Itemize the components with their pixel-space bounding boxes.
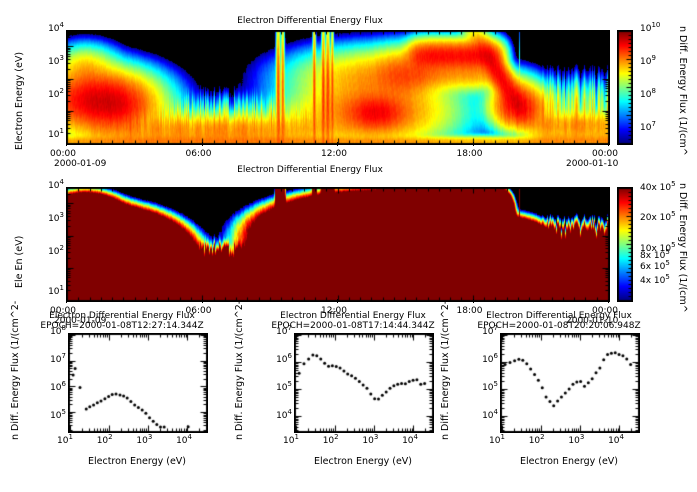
xtick-2: 103: [362, 436, 378, 446]
spectrum-3-title: Electron Differential Energy Flux: [464, 311, 654, 321]
xtick-time-0: 00:00: [50, 149, 76, 159]
spectrum-1-plot[interactable]: [68, 333, 208, 433]
spectrum-1-xtick-group: 101102103104: [68, 433, 206, 447]
cb2-tick-5: 4x 105: [640, 276, 670, 286]
xtick-0: 101: [57, 436, 73, 446]
panel-1-colorbar-ticks: 1010 109 108 107: [632, 30, 678, 143]
xtick-2: 103: [136, 436, 152, 446]
spectrum-2-plot[interactable]: [294, 333, 434, 433]
panel-1-colorbar-label: n Diff. Energy Flux (1/(cm^: [688, 26, 697, 37]
spectrum-3-xlabel: Electron Energy (eV): [484, 456, 654, 467]
panel-1-ylabel-text: Electron Energy (eV): [14, 52, 25, 150]
panel-1-ytick-0: 104: [48, 24, 64, 34]
xtick-mark-4: [608, 142, 609, 146]
xtick-0: 101: [489, 436, 505, 446]
sp1-ytick-3: 105: [50, 411, 66, 421]
xtick-mark-3: [473, 142, 474, 146]
sp2-ytick-1: 106: [276, 355, 292, 365]
sp1-ytick-0: 108: [50, 327, 66, 337]
panel-2-ytick-3: 101: [48, 287, 64, 297]
cb1-tick-3: 107: [640, 123, 656, 133]
spectrum-2-title: Electron Differential Energy Flux: [258, 311, 448, 321]
sp1-ytick-1: 107: [50, 355, 66, 365]
panel-1-title: Electron Differential Energy Flux: [0, 16, 620, 26]
panel-1-colorbar: [617, 30, 633, 145]
spectrum-2-xlabel: Electron Energy (eV): [278, 456, 448, 467]
sp3-ytick-0: 107: [482, 327, 498, 337]
panel-1-spectrogram[interactable]: [66, 30, 610, 145]
xtick-mark-1: [202, 299, 203, 303]
xtick-time-4: 00:00: [592, 149, 618, 159]
panel-2-colorbar-label-text: n Diff. Energy Flux (1/(cm^: [677, 183, 688, 313]
sp3-ytick-1: 106: [482, 355, 498, 365]
cb2-tick-1: 20x 105: [640, 213, 676, 223]
sp3-ytick-2: 105: [482, 383, 498, 393]
panel-2-colorbar-label: n Diff. Energy Flux (1/(cm^: [688, 183, 697, 194]
xtick-1: 102: [97, 436, 113, 446]
spectrum-3-plot[interactable]: [500, 333, 640, 433]
panel-2-ytick-0: 104: [48, 181, 64, 191]
panel-2-colorbar: [617, 187, 633, 302]
panel-2-ytick-group: 104 103 102 101: [34, 187, 64, 300]
panel-1-ytick-group: 104 103 102 101: [34, 30, 64, 143]
panel-2-title: Electron Differential Energy Flux: [0, 165, 620, 175]
xtick-2: 103: [568, 436, 584, 446]
panel-1-ytick-1: 103: [48, 57, 64, 67]
spectrum-2-ytick-group: 107 106 105 104: [262, 333, 292, 431]
cb2-tick-0: 40x 105: [640, 183, 676, 193]
xtick-mark-4: [608, 299, 609, 303]
xtick-mark-0: [66, 142, 67, 146]
sp2-ytick-0: 107: [276, 327, 292, 337]
panel-1-ytick-3: 101: [48, 130, 64, 140]
cb2-tick-4: 6x 105: [640, 262, 670, 272]
spectrum-3-ylabel-text: n Diff. Energy Flux (1/(cm^2-: [440, 301, 451, 440]
xtick-3: 104: [608, 436, 624, 446]
sp2-ytick-2: 105: [276, 383, 292, 393]
sp3-ytick-3: 104: [482, 411, 498, 421]
xtick-time-1: 06:00: [186, 149, 212, 159]
spectrum-1-ylabel-text: n Diff. Energy Flux (1/(cm^2-: [10, 301, 21, 440]
panel-1-ytick-2: 102: [48, 90, 64, 100]
xtick-3: 104: [176, 436, 192, 446]
spectrum-1-title: Electron Differential Energy Flux: [27, 311, 217, 321]
spectrum-2-xtick-group: 101102103104: [294, 433, 432, 447]
xtick-mark-2: [337, 299, 338, 303]
panel-2-ytick-1: 103: [48, 214, 64, 224]
spectrum-2-ylabel-text: n Diff. Energy Flux (1/(cm^2-: [234, 301, 245, 440]
xtick-mark-1: [202, 142, 203, 146]
cb1-tick-0: 1010: [640, 24, 660, 34]
xtick-0: 101: [283, 436, 299, 446]
panel-2-spectrogram[interactable]: [66, 187, 610, 302]
spectrum-1-ytick-group: 108 107 106 105: [36, 333, 66, 431]
sp2-ytick-3: 104: [276, 411, 292, 421]
xtick-1: 102: [323, 436, 339, 446]
xtick-mark-2: [337, 142, 338, 146]
spectrum-3-xtick-group: 101102103104: [500, 433, 638, 447]
cb1-tick-1: 109: [640, 57, 656, 67]
xtick-mark-3: [473, 299, 474, 303]
spectrum-1-xlabel: Electron Energy (eV): [52, 456, 222, 467]
sp1-ytick-2: 106: [50, 383, 66, 393]
xtick-mark-0: [66, 299, 67, 303]
xtick-time-2: 12:00: [321, 149, 347, 159]
xtick-3: 104: [402, 436, 418, 446]
xtick-time-3: 18:00: [457, 149, 483, 159]
panel-2-ytick-2: 102: [48, 247, 64, 257]
xtick-1: 102: [529, 436, 545, 446]
panel-2-ylabel-text: Ele En (eV): [14, 236, 25, 288]
spectrum-1-subtitle: EPOCH=2000-01-08T12:27:14.344Z: [12, 321, 232, 331]
cb1-tick-2: 108: [640, 90, 656, 100]
spectrum-3-ytick-group: 107 106 105 104: [468, 333, 498, 431]
panel-1-colorbar-label-text: n Diff. Energy Flux (1/(cm^: [677, 26, 688, 156]
